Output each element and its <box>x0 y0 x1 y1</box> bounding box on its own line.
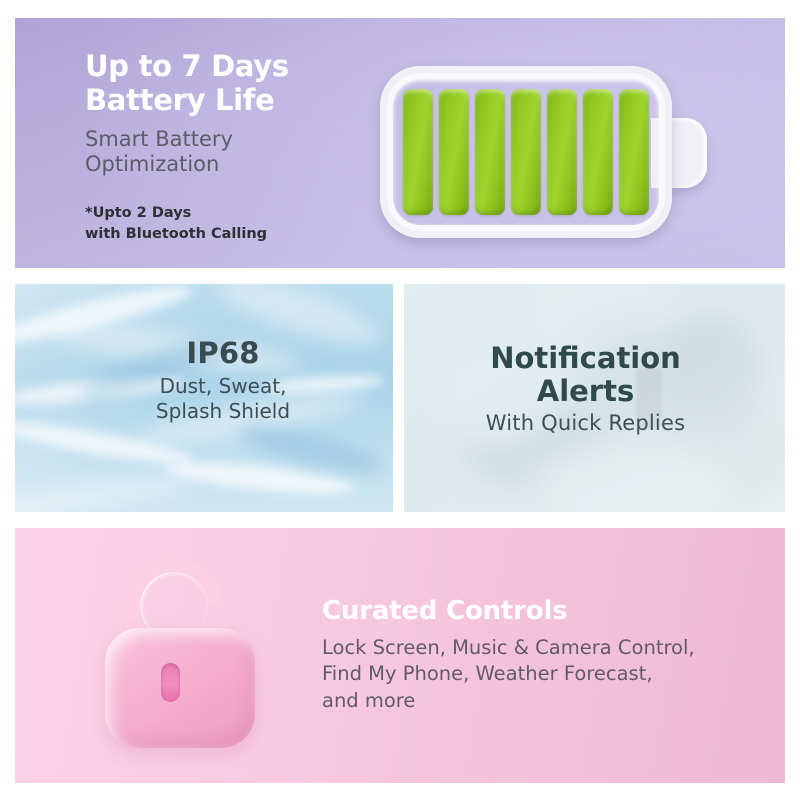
notifications-title: Notification Alerts <box>404 342 767 408</box>
padlock-keyhole <box>161 663 180 702</box>
battery-footnote: *Upto 2 Days with Bluetooth Calling <box>85 203 365 244</box>
controls-text-block: Curated Controls Lock Screen, Music & Ca… <box>322 596 772 714</box>
battery-cell <box>475 89 505 215</box>
battery-cell <box>511 89 541 215</box>
padlock-body <box>105 628 255 748</box>
panel-curated-controls: Curated Controls Lock Screen, Music & Ca… <box>15 528 785 783</box>
battery-cell <box>439 89 469 215</box>
ip68-subtitle: Dust, Sweat, Splash Shield <box>53 374 393 424</box>
battery-text-block: Up to 7 Days Battery Life Smart Battery … <box>85 50 365 244</box>
battery-cell <box>619 89 649 215</box>
battery-cell <box>403 89 433 215</box>
panel-ip68-rating: IP68 Dust, Sweat, Splash Shield <box>15 284 393 512</box>
battery-full-icon <box>373 56 753 248</box>
notifications-subtitle: With Quick Replies <box>404 411 767 435</box>
notifications-text-block: Notification Alerts With Quick Replies <box>404 342 785 435</box>
battery-subtitle: Smart Battery Optimization <box>85 127 365 177</box>
controls-title: Curated Controls <box>322 596 772 626</box>
controls-subtitle: Lock Screen, Music & Camera Control, Fin… <box>322 635 772 714</box>
ip68-title: IP68 <box>53 336 393 370</box>
battery-cells <box>403 89 649 215</box>
feature-infographic: Up to 7 Days Battery Life Smart Battery … <box>0 0 800 800</box>
open-padlock-icon <box>93 548 293 763</box>
panel-notification-alerts: Notification Alerts With Quick Replies <box>404 284 785 512</box>
battery-cell <box>583 89 613 215</box>
ip68-text-block: IP68 Dust, Sweat, Splash Shield <box>15 336 393 424</box>
battery-cell <box>547 89 577 215</box>
panel-battery-life: Up to 7 Days Battery Life Smart Battery … <box>15 18 785 268</box>
battery-title: Up to 7 Days Battery Life <box>85 50 365 118</box>
